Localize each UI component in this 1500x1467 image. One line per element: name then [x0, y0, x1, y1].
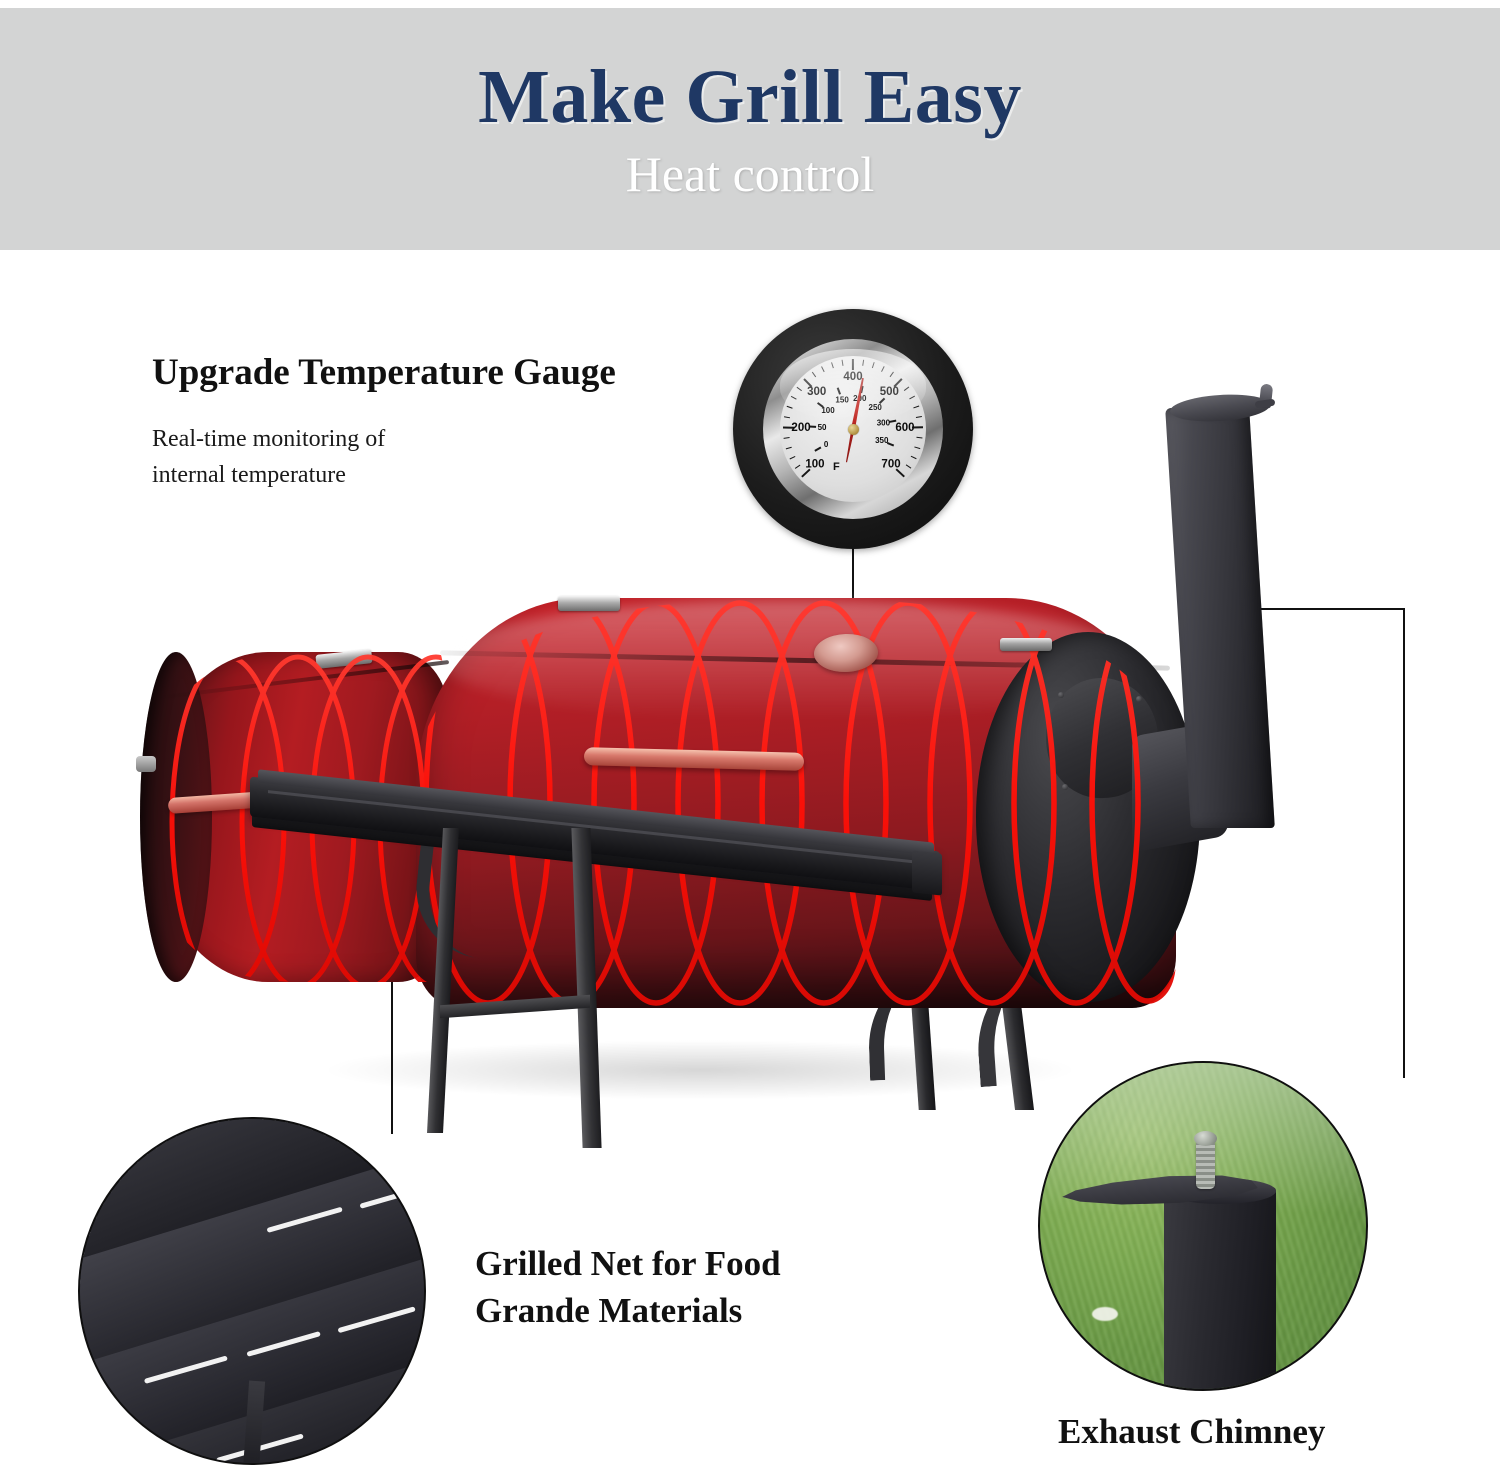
rivet	[1136, 696, 1142, 702]
gauge-tick-minor	[822, 366, 826, 372]
chimney-latch-arm	[1255, 399, 1276, 409]
rivet	[1062, 784, 1068, 790]
plate-slot	[246, 1331, 320, 1357]
rivet	[1058, 692, 1064, 698]
net-title-line-1: Grilled Net for Food	[475, 1240, 781, 1287]
gauge-celsius-tick-label: 100	[828, 411, 841, 420]
gauge-bezel-ring: 100200300400500600700 050100150200250300…	[763, 339, 943, 519]
gauge-tick-minor	[872, 362, 875, 368]
gauge-unit-label: F	[833, 461, 840, 473]
barrel-hinge-left	[558, 596, 620, 611]
gauge-tick-minor	[863, 360, 865, 366]
gauge-celsius-tick-label: 250	[875, 407, 888, 416]
gauge-tick-minor	[913, 406, 919, 409]
gauge-tick-minor	[832, 362, 835, 368]
gauge-tick-minor	[882, 366, 886, 372]
gauge-tick-minor	[787, 405, 793, 408]
gauge-callout-title: Upgrade Temperature Gauge	[152, 351, 616, 394]
plate-slot	[266, 1207, 342, 1233]
gauge-tick-minor	[797, 386, 803, 391]
gauge-desc-line-1: Real-time monitoring of	[152, 421, 385, 457]
gauge-callout-description: Real-time monitoring of internal tempera…	[152, 421, 385, 493]
exhaust-chimney-callout-circle	[1038, 1061, 1368, 1391]
gauge-celsius-tick-label: 300	[883, 423, 896, 432]
chimney-callout-title: Exhaust Chimney	[1058, 1412, 1325, 1452]
gauge-celsius-tick-label: 0	[826, 445, 830, 454]
gauge-celsius-tick	[838, 387, 842, 394]
chimney-cap	[1169, 392, 1272, 425]
barrel-hinge-right	[1000, 638, 1052, 651]
gauge-celsius-tick-label: 50	[822, 427, 831, 436]
gauge-fahrenheit-tick-label: 500	[889, 392, 908, 404]
gauge-fahrenheit-tick-label: 300	[817, 392, 836, 404]
background-pebble	[1092, 1307, 1118, 1321]
gauge-tick-minor	[812, 371, 817, 377]
plate-slot	[337, 1306, 415, 1333]
gauge-dial-face: 100200300400500600700 050100150200250300…	[780, 356, 926, 502]
gauge-tick-minor	[794, 464, 800, 468]
gauge-tick-minor	[890, 372, 895, 378]
leader-line-chimney-vertical	[1403, 608, 1405, 1078]
gauge-tick-minor	[910, 396, 916, 400]
plate-slot	[110, 1460, 204, 1465]
gauge-desc-line-2: internal temperature	[152, 457, 385, 493]
gauge-tick-major	[853, 359, 855, 370]
damper-adjust-screw	[1196, 1139, 1215, 1189]
plate-slot	[144, 1355, 228, 1384]
chimney-stack-body	[1164, 1187, 1276, 1391]
gauge-tick-minor	[914, 447, 920, 450]
plate-slot	[359, 1185, 426, 1209]
net-title-line-2: Grande Materials	[475, 1287, 781, 1334]
header-band: Make Grill Easy Heat control	[0, 8, 1500, 250]
temperature-gauge-callout: 100200300400500600700 050100150200250300…	[733, 309, 973, 549]
gauge-tick-minor	[916, 417, 922, 419]
page-subtitle: Heat control	[626, 149, 875, 199]
firebox-end-cap	[140, 652, 212, 982]
page-title: Make Grill Easy	[478, 59, 1022, 135]
gauge-fahrenheit-tick-label: 100	[815, 464, 834, 476]
grilled-net-callout-circle	[78, 1117, 426, 1465]
gauge-fahrenheit-tick-label: 600	[905, 428, 924, 440]
net-callout-title: Grilled Net for Food Grande Materials	[475, 1240, 781, 1335]
gauge-tick-minor	[791, 395, 797, 399]
gauge-tick-minor	[784, 415, 790, 417]
gauge-tick-minor	[783, 436, 789, 438]
gauge-tick-minor	[785, 446, 791, 449]
gauge-tick-minor	[842, 360, 844, 366]
gauge-needle-hub	[848, 424, 859, 435]
shelf-end-cap	[912, 850, 942, 895]
gauge-celsius-tick	[814, 446, 821, 451]
damper-knob	[1194, 1131, 1217, 1146]
gauge-fahrenheit-tick-label: 700	[891, 464, 910, 476]
gauge-tick-minor	[789, 455, 795, 459]
grill-product-illustration	[140, 560, 1400, 1100]
gauge-tick-minor	[910, 456, 916, 460]
firebox-side-knob	[136, 756, 156, 772]
gauge-celsius-tick-label: 350	[882, 441, 895, 450]
